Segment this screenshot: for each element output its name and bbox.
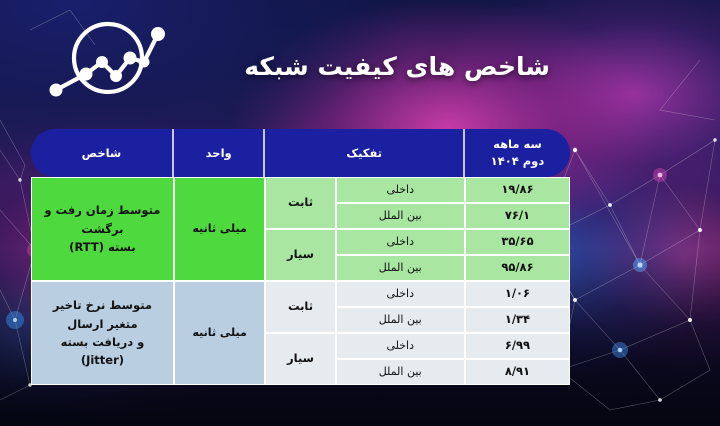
cell-value: ۶/۹۹ [465,333,570,359]
cell-value: ۸/۹۱ [465,359,570,385]
cell-split: داخلی [336,281,465,307]
cell-split: بین الملل [336,359,465,385]
screenshot-root: شاخص های کیفیت شبکه سه ماهه دوم ۱۴۰۴ تفک… [0,0,720,426]
cell-metric-name: متوسط زمان رفت و برگشت بسته (RTT) [31,177,174,281]
cell-value: ۳۵/۶۵ [465,229,570,255]
cell-split: بین الملل [336,203,465,229]
column-header-quarter: سه ماهه دوم ۱۴۰۴ [465,129,570,177]
quarter-header-line1: سه ماهه [465,136,570,153]
cell-unit: میلی ثانیه [174,281,266,385]
metric-line2: و دریافت بسته (Jitter) [38,333,167,370]
cell-value: ۹۵/۸۶ [465,255,570,281]
cell-access-type: سیار [265,229,335,281]
network-quality-table: سه ماهه دوم ۱۴۰۴ تفکیک واحد شاخص ۱۹/۸۶ د… [31,129,570,385]
table-row: ۱/۰۶ داخلی ثابت میلی ثانیه متوسط نرخ تاخ… [31,281,570,307]
metric-line1: متوسط نرخ تاخیر متغیر ارسال [38,296,167,333]
cell-split: داخلی [336,177,465,203]
cell-value: ۱/۳۴ [465,307,570,333]
brand-logo [40,12,170,112]
metric-line2: بسته (RTT) [38,238,167,256]
column-header-unit: واحد [174,129,266,177]
metric-line1: متوسط زمان رفت و برگشت [38,201,167,238]
table-body: ۱۹/۸۶ داخلی ثابت میلی ثانیه متوسط زمان ر… [31,177,570,385]
page-title: شاخص های کیفیت شبکه [244,52,550,81]
cell-split: بین الملل [336,255,465,281]
table-header-row: سه ماهه دوم ۱۴۰۴ تفکیک واحد شاخص [31,129,570,177]
metrics-table: سه ماهه دوم ۱۴۰۴ تفکیک واحد شاخص ۱۹/۸۶ د… [31,129,570,385]
quarter-header-line2: دوم ۱۴۰۴ [465,153,570,170]
cell-access-type: سیار [265,333,335,385]
cell-access-type: ثابت [265,281,335,333]
cell-value: ۱/۰۶ [465,281,570,307]
column-header-metric: شاخص [31,129,174,177]
table-header: سه ماهه دوم ۱۴۰۴ تفکیک واحد شاخص [31,129,570,177]
cell-metric-name: متوسط نرخ تاخیر متغیر ارسال و دریافت بست… [31,281,174,385]
cell-access-type: ثابت [265,177,335,229]
column-header-split: تفکیک [265,129,464,177]
cell-value: ۱۹/۸۶ [465,177,570,203]
cell-value: ۷۶/۱ [465,203,570,229]
cell-split: بین الملل [336,307,465,333]
table-row: ۱۹/۸۶ داخلی ثابت میلی ثانیه متوسط زمان ر… [31,177,570,203]
cell-unit: میلی ثانیه [174,177,266,281]
cell-split: داخلی [336,333,465,359]
cell-split: داخلی [336,229,465,255]
